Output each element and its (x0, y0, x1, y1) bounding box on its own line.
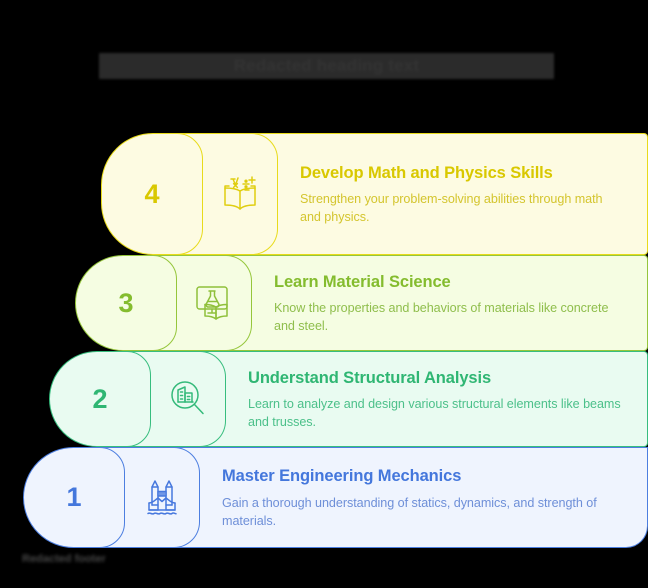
step-title-1: Master Engineering Mechanics (222, 466, 625, 487)
step-row-1[interactable]: 1 Master E (23, 447, 648, 548)
footer-caption-redacted: Redacted footer (22, 551, 140, 568)
infographic-canvas: Redacted heading text 4 (0, 0, 648, 588)
step-row-3[interactable]: 3 Learn Material Science Know the proper… (75, 255, 648, 351)
step-title-2: Understand Structural Analysis (248, 368, 625, 389)
step-number-badge-2: 2 (49, 351, 151, 447)
step-number-3: 3 (118, 290, 133, 317)
footer-caption-text: Redacted footer (22, 551, 140, 568)
step-description-2: Learn to analyze and design various stru… (248, 396, 625, 432)
page-title-redacted: Redacted heading text (99, 53, 554, 79)
step-title-4: Develop Math and Physics Skills (300, 163, 625, 184)
step-row-4[interactable]: 4 (101, 133, 648, 255)
step-number-4: 4 (144, 181, 159, 208)
step-row-2[interactable]: 2 Understand Structural Analysis Learn t… (49, 351, 648, 447)
step-number-1: 1 (66, 484, 81, 511)
step-content-3: Learn Material Science Know the properti… (226, 255, 648, 351)
step-description-4: Strengthen your problem-solving abilitie… (300, 191, 625, 227)
step-content-1: Master Engineering Mechanics Gain a thor… (174, 447, 648, 548)
step-number-badge-3: 3 (75, 255, 177, 351)
step-content-4: Develop Math and Physics Skills Strength… (252, 133, 648, 255)
step-content-2: Understand Structural Analysis Learn to … (200, 351, 648, 447)
step-number-badge-4: 4 (101, 133, 203, 255)
step-description-3: Know the properties and behaviors of mat… (274, 300, 625, 336)
step-number-2: 2 (92, 386, 107, 413)
step-description-1: Gain a thorough understanding of statics… (222, 495, 625, 531)
step-number-badge-1: 1 (23, 447, 125, 548)
page-title-text: Redacted heading text (99, 53, 554, 79)
step-title-3: Learn Material Science (274, 272, 625, 293)
